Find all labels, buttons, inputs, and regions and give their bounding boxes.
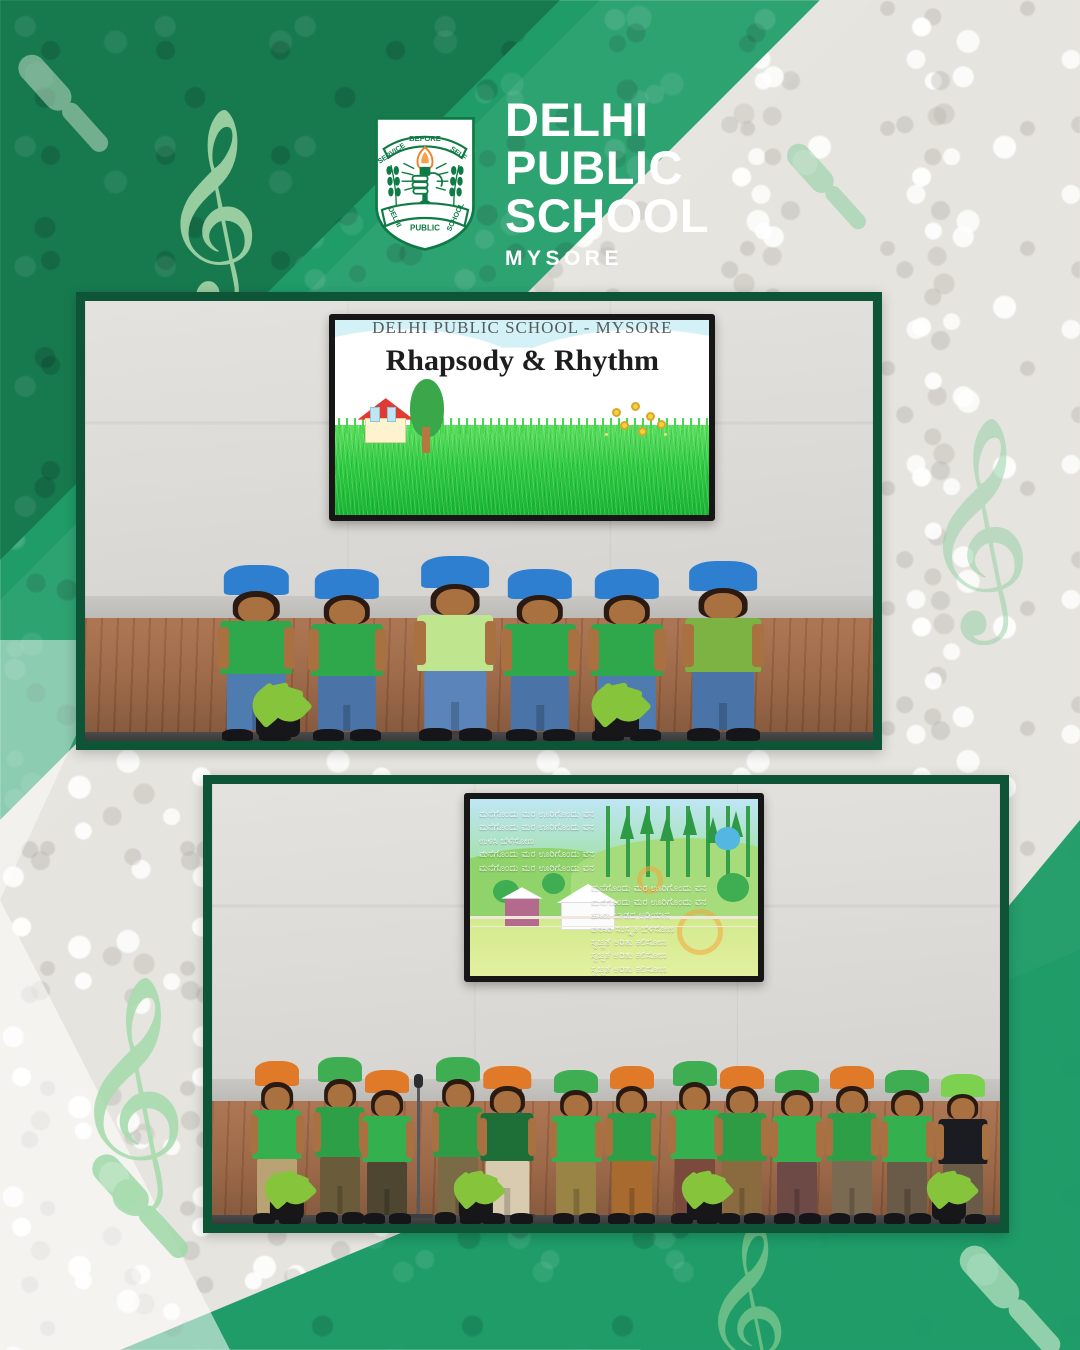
arm (715, 1118, 723, 1156)
face (522, 600, 558, 626)
green-tshirt (504, 624, 576, 675)
arm (926, 1121, 934, 1158)
shoe (634, 1213, 656, 1224)
leg-gap (574, 1189, 579, 1215)
leg-gap (536, 705, 543, 731)
poster-canvas: 𝄞 𝄞 𝄞 𝄞 BEFORE SERVICE SELF (0, 0, 1080, 1350)
face (609, 600, 645, 626)
arm (871, 1118, 879, 1156)
barn-graphic (505, 898, 539, 926)
face (682, 1087, 707, 1111)
arm (826, 1118, 834, 1156)
shoe (579, 1213, 601, 1224)
face (329, 600, 365, 626)
arm (284, 627, 295, 669)
bird-graphic (715, 827, 741, 850)
brand-subtitle-mysore: MYSORE (505, 247, 709, 271)
shoe (350, 729, 381, 741)
face (730, 1091, 755, 1115)
slide-rhapsody-rhythm: DELHI PUBLIC SCHOOL - MYSORE Rhapsody & … (335, 320, 709, 515)
child-performer (503, 569, 578, 741)
face (785, 1095, 810, 1118)
arm (881, 1121, 889, 1158)
green-tshirt (311, 624, 383, 675)
face (895, 1095, 920, 1118)
shoe (364, 1213, 386, 1224)
arm (528, 1118, 536, 1156)
slide-heading: DELHI PUBLIC SCHOOL - MYSORE (335, 318, 709, 338)
shoe (799, 1213, 821, 1224)
arm (682, 624, 694, 667)
arm (313, 1112, 321, 1152)
arm (595, 1121, 603, 1158)
arm (250, 1115, 258, 1154)
arm (414, 621, 426, 665)
green-tshirt (717, 1113, 766, 1161)
face (619, 1091, 644, 1115)
green-tshirt (685, 618, 761, 672)
arm (588, 629, 599, 670)
face (328, 1084, 353, 1109)
child-performer (771, 1070, 822, 1224)
brand-line-school: SCHOOL (505, 192, 709, 240)
slide-kannada-lyrics: ಮನೆಗೊಂದು ಮರ ಊರಿಗೊಂದು ವನ ಮನೆಗೊಂದು ಮರ ಊರಿಗ… (470, 799, 757, 976)
green-tshirt (670, 1110, 719, 1159)
arm (761, 1118, 769, 1156)
arm (770, 1121, 778, 1158)
leg-gap (905, 1189, 910, 1215)
photo-card-top: DELHI PUBLIC SCHOOL - MYSORE Rhapsody & … (76, 292, 882, 750)
arm (568, 629, 579, 670)
face (446, 1084, 471, 1109)
arm (501, 629, 512, 670)
leg-gap (850, 1188, 855, 1215)
brand-line-public: PUBLIC (505, 144, 709, 192)
arm (752, 624, 764, 667)
child-performer (416, 556, 495, 741)
green-tshirt (252, 1110, 301, 1159)
leg-gap (719, 703, 727, 730)
face (494, 1091, 520, 1115)
green-tshirt (607, 1113, 656, 1161)
arm (654, 629, 665, 670)
shoe (884, 1213, 906, 1224)
child-performer (827, 1066, 878, 1224)
presentation-screen-bottom: ಮನೆಗೊಂದು ಮರ ಊರಿಗೊಂದು ವನ ಮನೆಗೊಂದು ಮರ ಊರಿಗ… (464, 793, 763, 982)
green-tshirt (363, 1116, 412, 1162)
green-tshirt (418, 615, 494, 670)
shoe (506, 729, 537, 741)
shoe (726, 728, 759, 741)
arm (668, 1115, 676, 1154)
arm (479, 1118, 487, 1156)
shoe (854, 1213, 876, 1224)
arm (651, 1118, 659, 1156)
arm (936, 1124, 944, 1160)
green-tshirt (883, 1116, 932, 1162)
potted-plant (259, 1171, 314, 1219)
costume-headpiece (689, 561, 757, 592)
arm (361, 1121, 369, 1158)
svg-text:BEFORE: BEFORE (409, 134, 441, 143)
presentation-screen-top: DELHI PUBLIC SCHOOL - MYSORE Rhapsody & … (329, 314, 715, 521)
child-performer (551, 1070, 602, 1224)
leg-gap (385, 1189, 390, 1215)
lyrics-block-primary: ಮನೆಗೊಂದು ಮರ ಊರಿಗೊಂದು ವನ ಮನೆಗೊಂದು ಮರ ಊರಿಗ… (479, 808, 594, 875)
shoe (419, 728, 452, 741)
face (704, 593, 742, 620)
face (950, 1098, 975, 1120)
child-performer (684, 561, 763, 741)
shoe (829, 1213, 851, 1224)
arm (308, 629, 319, 670)
arm (605, 1118, 613, 1156)
brand-wordmark: DELHI PUBLIC SCHOOL MYSORE (505, 96, 709, 271)
face (840, 1091, 865, 1115)
arm (296, 1115, 304, 1154)
slide-house-graphic (361, 398, 410, 443)
arm (550, 1121, 558, 1158)
potted-plant (921, 1171, 976, 1219)
arm (432, 1112, 440, 1152)
face (564, 1095, 589, 1118)
green-tshirt (591, 624, 663, 675)
green-tshirt (552, 1116, 601, 1162)
leg-gap (343, 705, 350, 731)
arm (217, 627, 228, 669)
potted-plant (448, 1171, 503, 1219)
green-tshirt (938, 1119, 987, 1164)
photo-top-scene: DELHI PUBLIC SCHOOL - MYSORE Rhapsody & … (85, 301, 873, 741)
leg-gap (337, 1186, 342, 1214)
photo-card-bottom: ಮನೆಗೊಂದು ಮರ ಊರಿಗೊಂದು ವನ ಮನೆಗೊಂದು ಮರ ಊರಿಗ… (203, 775, 1009, 1233)
child-performer (314, 1057, 365, 1224)
face (375, 1095, 400, 1118)
shoe (774, 1213, 796, 1224)
leg-gap (451, 702, 459, 730)
microphone-stand (417, 1083, 420, 1215)
shoe (316, 1212, 338, 1224)
shoe (510, 1213, 533, 1224)
child-performer (362, 1070, 413, 1224)
leg-gap (629, 1188, 634, 1215)
potted-plant (677, 1171, 732, 1219)
potted-plant (581, 684, 652, 737)
arm (406, 1121, 414, 1158)
svg-text:PUBLIC: PUBLIC (410, 224, 440, 233)
shoe (744, 1213, 766, 1224)
shoe (553, 1213, 575, 1224)
brand-line-delhi: DELHI (505, 96, 709, 144)
leg-gap (739, 1188, 744, 1215)
potted-plant (243, 684, 314, 737)
lyrics-block-secondary: ಮನೆಗೊಂದು ಮರ ಊರಿಗೊಂದು ವನ ಮನೆಗೊಂದು ಮರ ಊರಿಗ… (591, 882, 706, 976)
face (238, 597, 274, 623)
shoe (687, 728, 720, 741)
face (436, 589, 474, 617)
shoe (313, 729, 344, 741)
leg-gap (795, 1189, 800, 1215)
costume-headpiece (421, 556, 489, 587)
arm (485, 621, 497, 665)
shoe (543, 729, 574, 741)
green-tshirt (315, 1107, 364, 1157)
green-tshirt (220, 621, 292, 674)
green-tshirt (434, 1107, 483, 1157)
arm (375, 629, 386, 670)
green-tshirt (773, 1116, 822, 1162)
green-tshirt (828, 1113, 877, 1161)
arm (982, 1124, 990, 1160)
shoe (608, 1213, 630, 1224)
shoe (389, 1213, 411, 1224)
child-performer (606, 1066, 657, 1224)
child-performer (310, 569, 385, 741)
photo-bottom-scene: ಮನೆಗೊಂದು ಮರ ಊರಿಗೊಂದು ವನ ಮನೆಗೊಂದು ಮರ ಊರಿಗ… (212, 784, 1000, 1224)
shoe (459, 728, 492, 741)
brand-header: BEFORE SERVICE SELF (0, 96, 1080, 271)
face (265, 1087, 290, 1111)
green-tshirt (481, 1113, 534, 1161)
slide-title: Rhapsody & Rhythm (335, 344, 709, 378)
arm (816, 1121, 824, 1158)
shoe (342, 1212, 364, 1224)
school-crest-icon: BEFORE SERVICE SELF (371, 113, 479, 253)
